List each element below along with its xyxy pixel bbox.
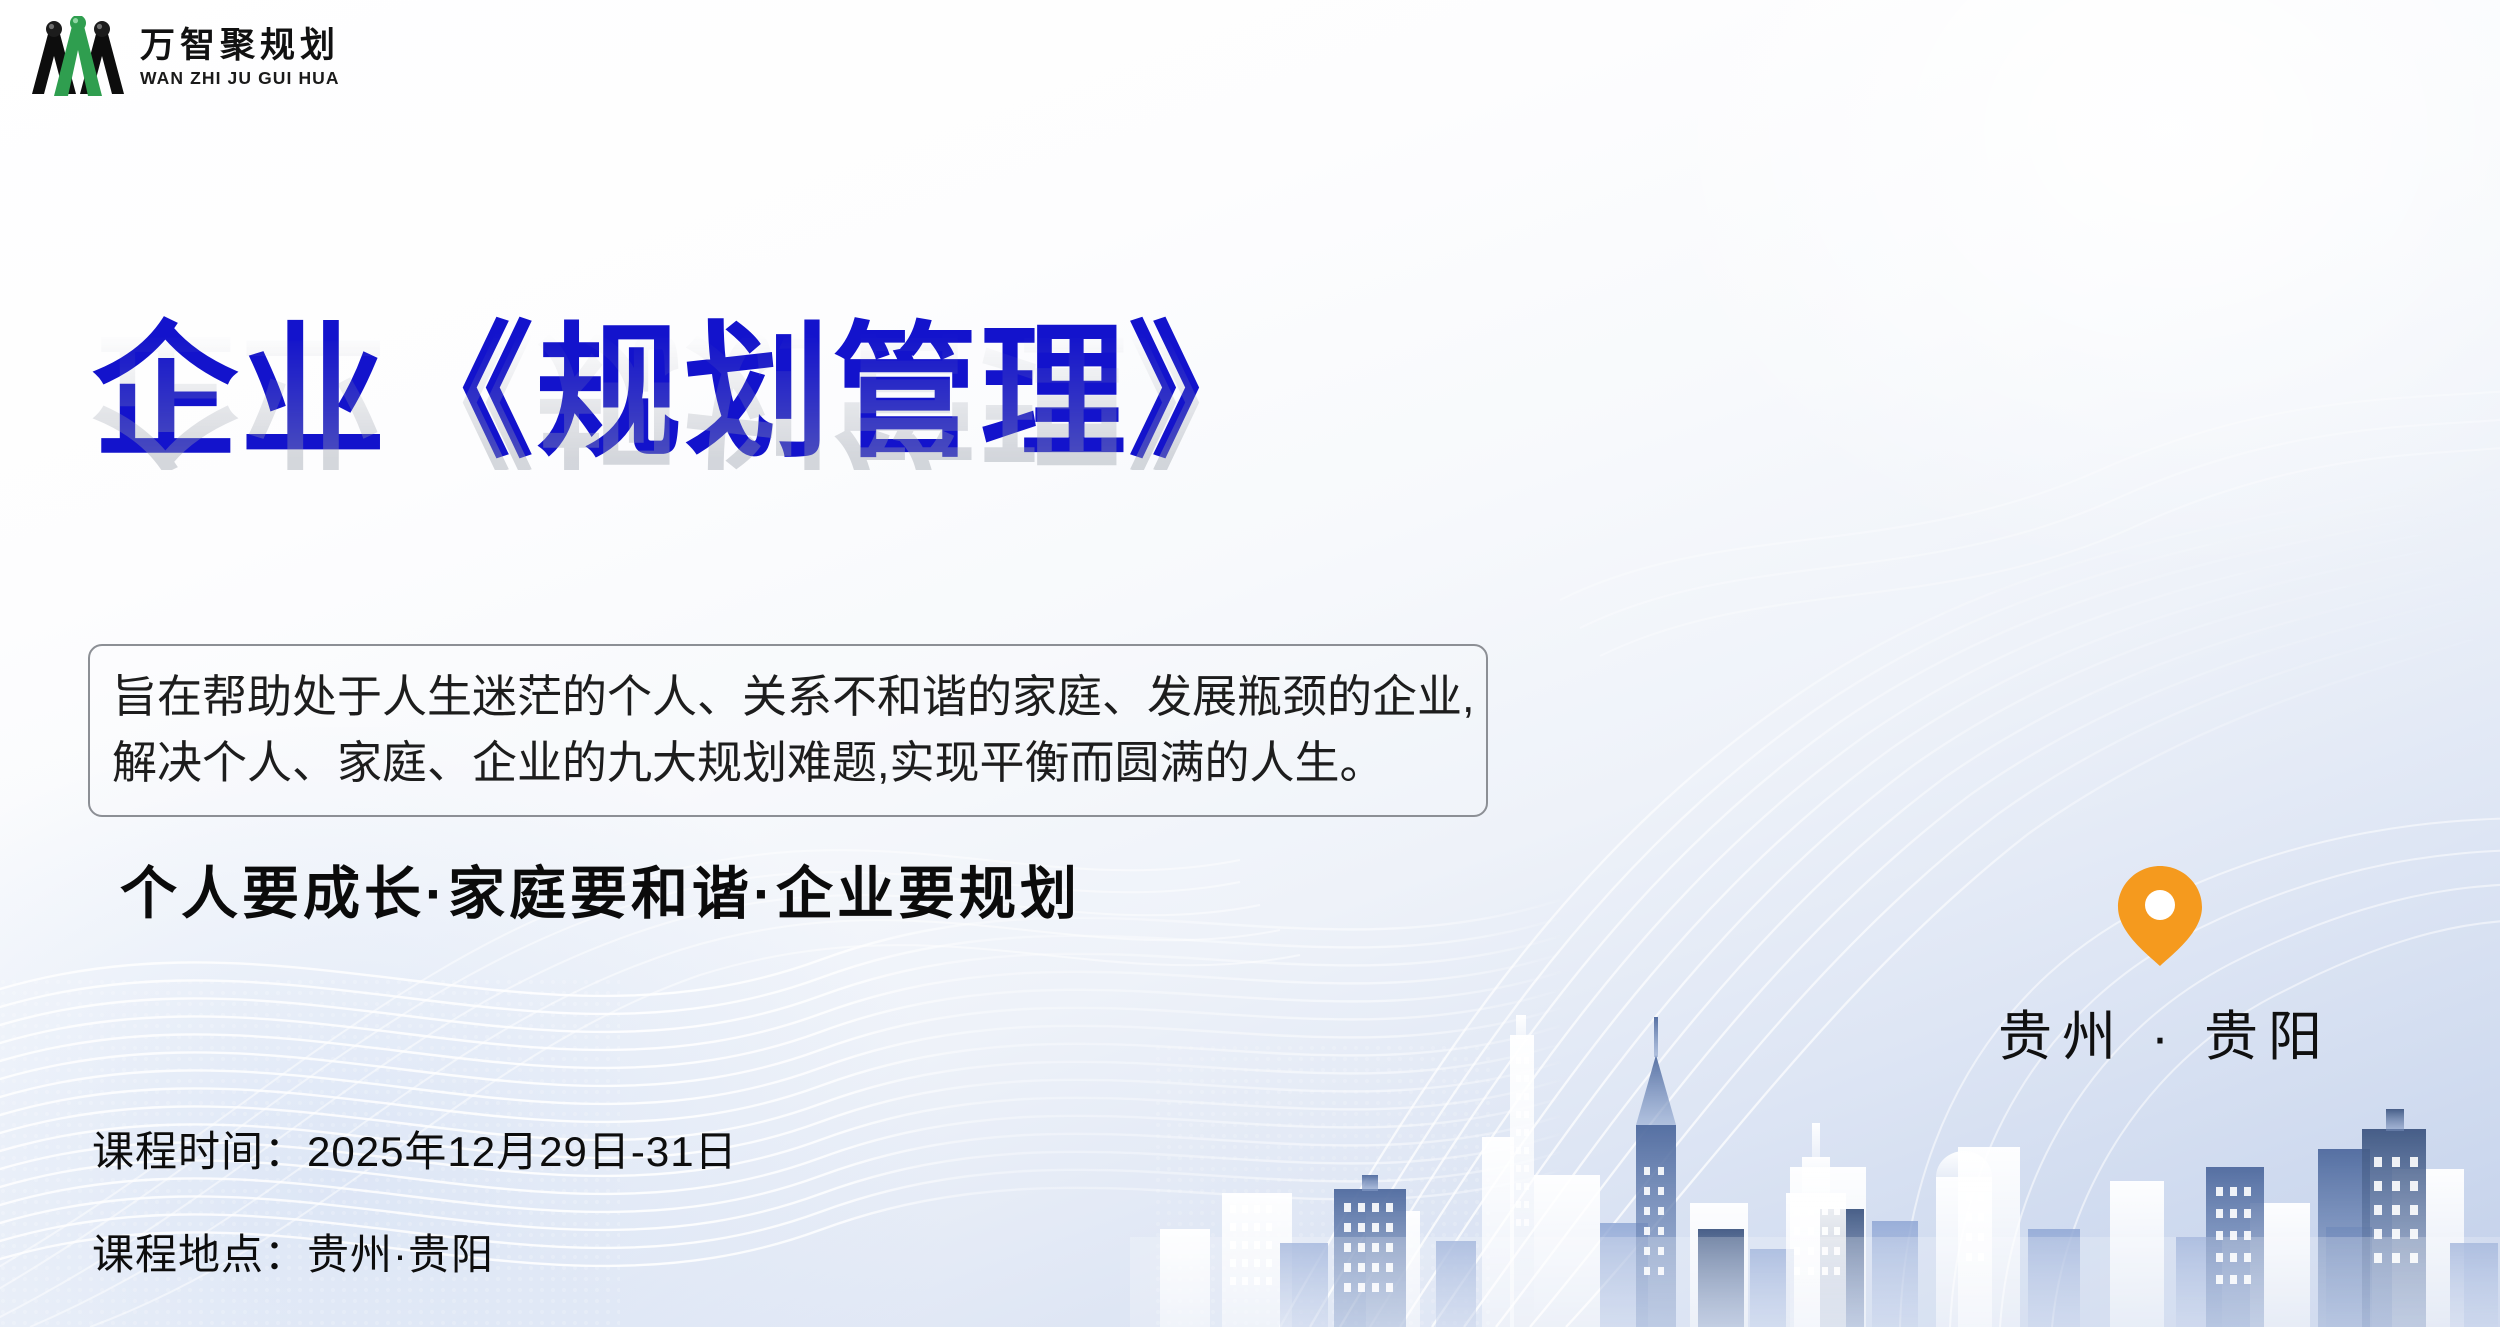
- course-meta: 课程时间：2025年12月29日-31日 课程地点：贵州·贵阳: [92, 1118, 738, 1282]
- description-line-1: 旨在帮助处于人生迷茫的个人、关系不和谐的家庭、发展瓶颈的企业,: [112, 664, 1460, 730]
- three-people-logo-icon: [30, 16, 126, 98]
- brand-name-cn: 万智聚规划: [140, 26, 340, 65]
- location-block: 贵州 · 贵阳: [1960, 862, 2360, 1071]
- brand-name-en: WAN ZHI JU GUI HUA: [140, 68, 340, 88]
- hero-title-block: 企业《规划管理》 企业《规划管理》: [92, 320, 1592, 616]
- brand-wordmark: 万智聚规划 WAN ZHI JU GUI HUA: [140, 26, 340, 88]
- page-title-reflection: 企业《规划管理》: [92, 324, 1592, 470]
- course-place: 课程地点：贵州·贵阳: [92, 1221, 738, 1282]
- description-line-2: 解决个人、家庭、企业的九大规划难题,实现平衡而圆满的人生。: [112, 730, 1460, 796]
- location-label: 贵州 · 贵阳: [1960, 992, 2360, 1071]
- slogan-text: 个人要成长·家庭要和谐·企业要规划: [120, 848, 1081, 930]
- top-right-glow: [1620, 0, 2500, 580]
- map-pin-icon: [2114, 862, 2206, 970]
- description-box: 旨在帮助处于人生迷茫的个人、关系不和谐的家庭、发展瓶颈的企业, 解决个人、家庭、…: [88, 644, 1488, 817]
- course-time: 课程时间：2025年12月29日-31日: [92, 1118, 738, 1179]
- promo-banner: 万智聚规划 WAN ZHI JU GUI HUA 企业《规划管理》 企业《规划管…: [0, 0, 2500, 1327]
- brand-logo[interactable]: 万智聚规划 WAN ZHI JU GUI HUA: [30, 16, 340, 98]
